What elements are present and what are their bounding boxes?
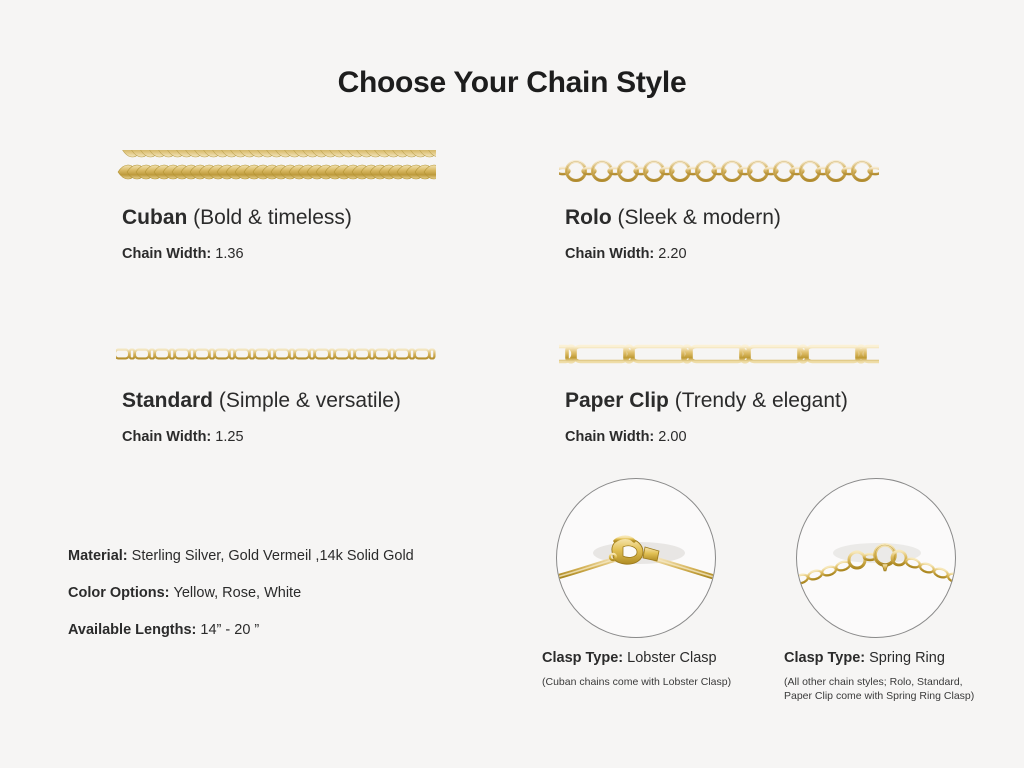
- clasp-note: (Cuban chains come with Lobster Clasp): [540, 675, 731, 689]
- chain-width: Chain Width: 1.36: [122, 246, 522, 262]
- clasp-value: Lobster Clasp: [627, 650, 716, 666]
- clasp-label: Clasp Type:: [784, 650, 865, 666]
- chain-title: Standard (Simple & versatile): [122, 389, 522, 413]
- chain-option-rolo[interactable]: Rolo (Sleek & modern) Chain Width: 2.20: [565, 150, 965, 262]
- clasp-option-spring-ring[interactable]: Clasp Type: Spring Ring (All other chain…: [778, 478, 974, 703]
- chain-descriptor: (Sleek & modern): [618, 206, 781, 229]
- cuban-chain-image: [116, 150, 436, 194]
- lobster-clasp-photo: [556, 478, 716, 638]
- spec-label: Color Options:: [68, 585, 170, 601]
- page-title: Choose Your Chain Style: [0, 66, 1024, 100]
- spec-label: Material:: [68, 548, 128, 564]
- chain-title: Rolo (Sleek & modern): [565, 206, 965, 230]
- chain-descriptor: (Trendy & elegant): [675, 389, 848, 412]
- chain-name: Rolo: [565, 206, 612, 229]
- chain-width-label: Chain Width:: [565, 246, 654, 262]
- chain-width-value: 2.00: [658, 429, 686, 445]
- chain-descriptor: (Bold & timeless): [193, 206, 352, 229]
- spec-value: 14” - 20 ”: [200, 622, 259, 638]
- chain-width: Chain Width: 2.20: [565, 246, 965, 262]
- chain-title: Cuban (Bold & timeless): [122, 206, 522, 230]
- chain-name: Cuban: [122, 206, 187, 229]
- chain-width-value: 2.20: [658, 246, 686, 262]
- chain-option-cuban[interactable]: Cuban (Bold & timeless) Chain Width: 1.3…: [122, 150, 522, 262]
- paperclip-chain-image: [559, 333, 879, 377]
- clasp-note: (All other chain styles; Rolo, Standard,…: [778, 675, 974, 703]
- chain-width-value: 1.25: [215, 429, 243, 445]
- spec-material: Material: Sterling Silver, Gold Vermeil …: [68, 548, 538, 564]
- chain-width-label: Chain Width:: [122, 246, 211, 262]
- spec-label: Available Lengths:: [68, 622, 196, 638]
- clasp-label: Clasp Type:: [542, 650, 623, 666]
- standard-chain-image: [116, 333, 436, 377]
- chain-width-value: 1.36: [215, 246, 243, 262]
- product-specs: Material: Sterling Silver, Gold Vermeil …: [68, 548, 538, 659]
- clasp-caption: Clasp Type: Spring Ring: [778, 650, 974, 666]
- chain-width: Chain Width: 1.25: [122, 429, 522, 445]
- chain-option-paper-clip[interactable]: Paper Clip (Trendy & elegant) Chain Widt…: [565, 333, 965, 445]
- spec-color-options: Color Options: Yellow, Rose, White: [68, 585, 538, 601]
- spec-available-lengths: Available Lengths: 14” - 20 ”: [68, 622, 538, 638]
- spec-value: Sterling Silver, Gold Vermeil ,14k Solid…: [132, 548, 414, 564]
- chain-name: Standard: [122, 389, 213, 412]
- clasp-option-lobster[interactable]: Clasp Type: Lobster Clasp (Cuban chains …: [540, 478, 731, 689]
- chain-width-label: Chain Width:: [565, 429, 654, 445]
- chain-width: Chain Width: 2.00: [565, 429, 965, 445]
- chain-descriptor: (Simple & versatile): [219, 389, 401, 412]
- spring-ring-clasp-photo: [796, 478, 956, 638]
- clasp-caption: Clasp Type: Lobster Clasp: [540, 650, 731, 666]
- rolo-chain-image: [559, 150, 879, 194]
- chain-title: Paper Clip (Trendy & elegant): [565, 389, 965, 413]
- spec-value: Yellow, Rose, White: [174, 585, 302, 601]
- chain-name: Paper Clip: [565, 389, 669, 412]
- clasp-value: Spring Ring: [869, 650, 945, 666]
- chain-width-label: Chain Width:: [122, 429, 211, 445]
- chain-option-standard[interactable]: Standard (Simple & versatile) Chain Widt…: [122, 333, 522, 445]
